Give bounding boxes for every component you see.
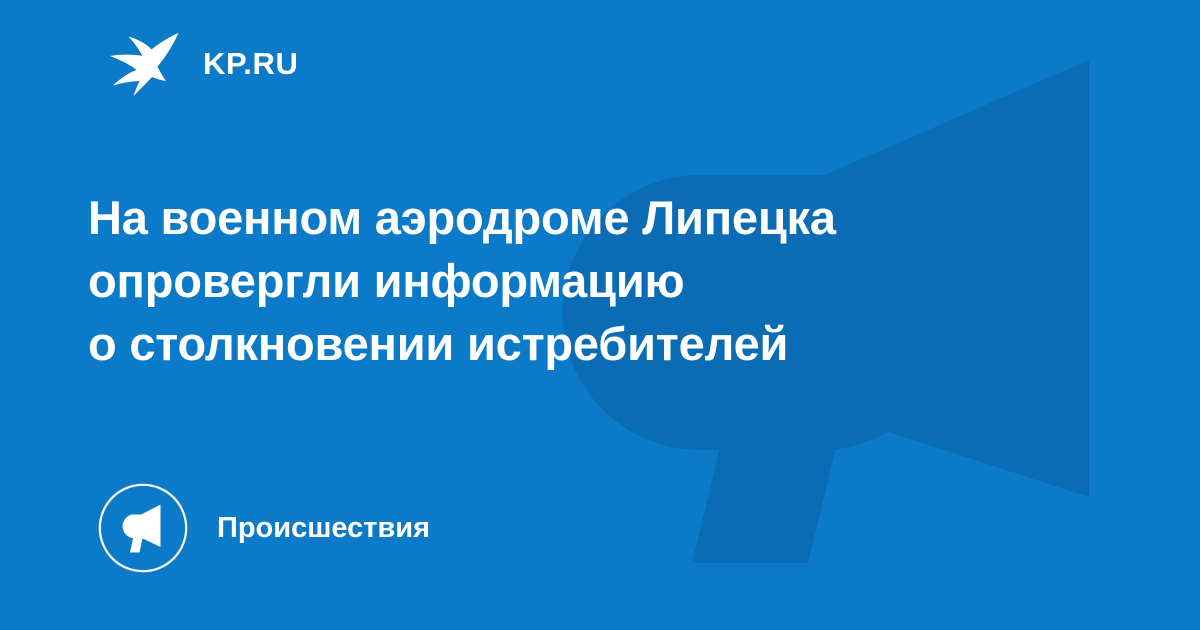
category-tag[interactable]: Происшествия [97,482,430,574]
headline-line-3: о столкновении истребителей [88,312,1098,375]
megaphone-icon [97,482,189,574]
category-label: Происшествия [217,514,430,543]
brand-logo[interactable]: KP.RU [108,33,298,93]
headline-line-2: опровергли информацию [88,249,1098,312]
headline-line-1: На военном аэродроме Липецка [88,186,1098,249]
brand-name-text: KP.RU [203,48,298,79]
swallow-bird-icon [108,30,182,96]
news-share-card: KP.RU На военном аэродроме Липецка опров… [0,0,1200,630]
headline: На военном аэродроме Липецка опровергли … [88,186,1098,375]
